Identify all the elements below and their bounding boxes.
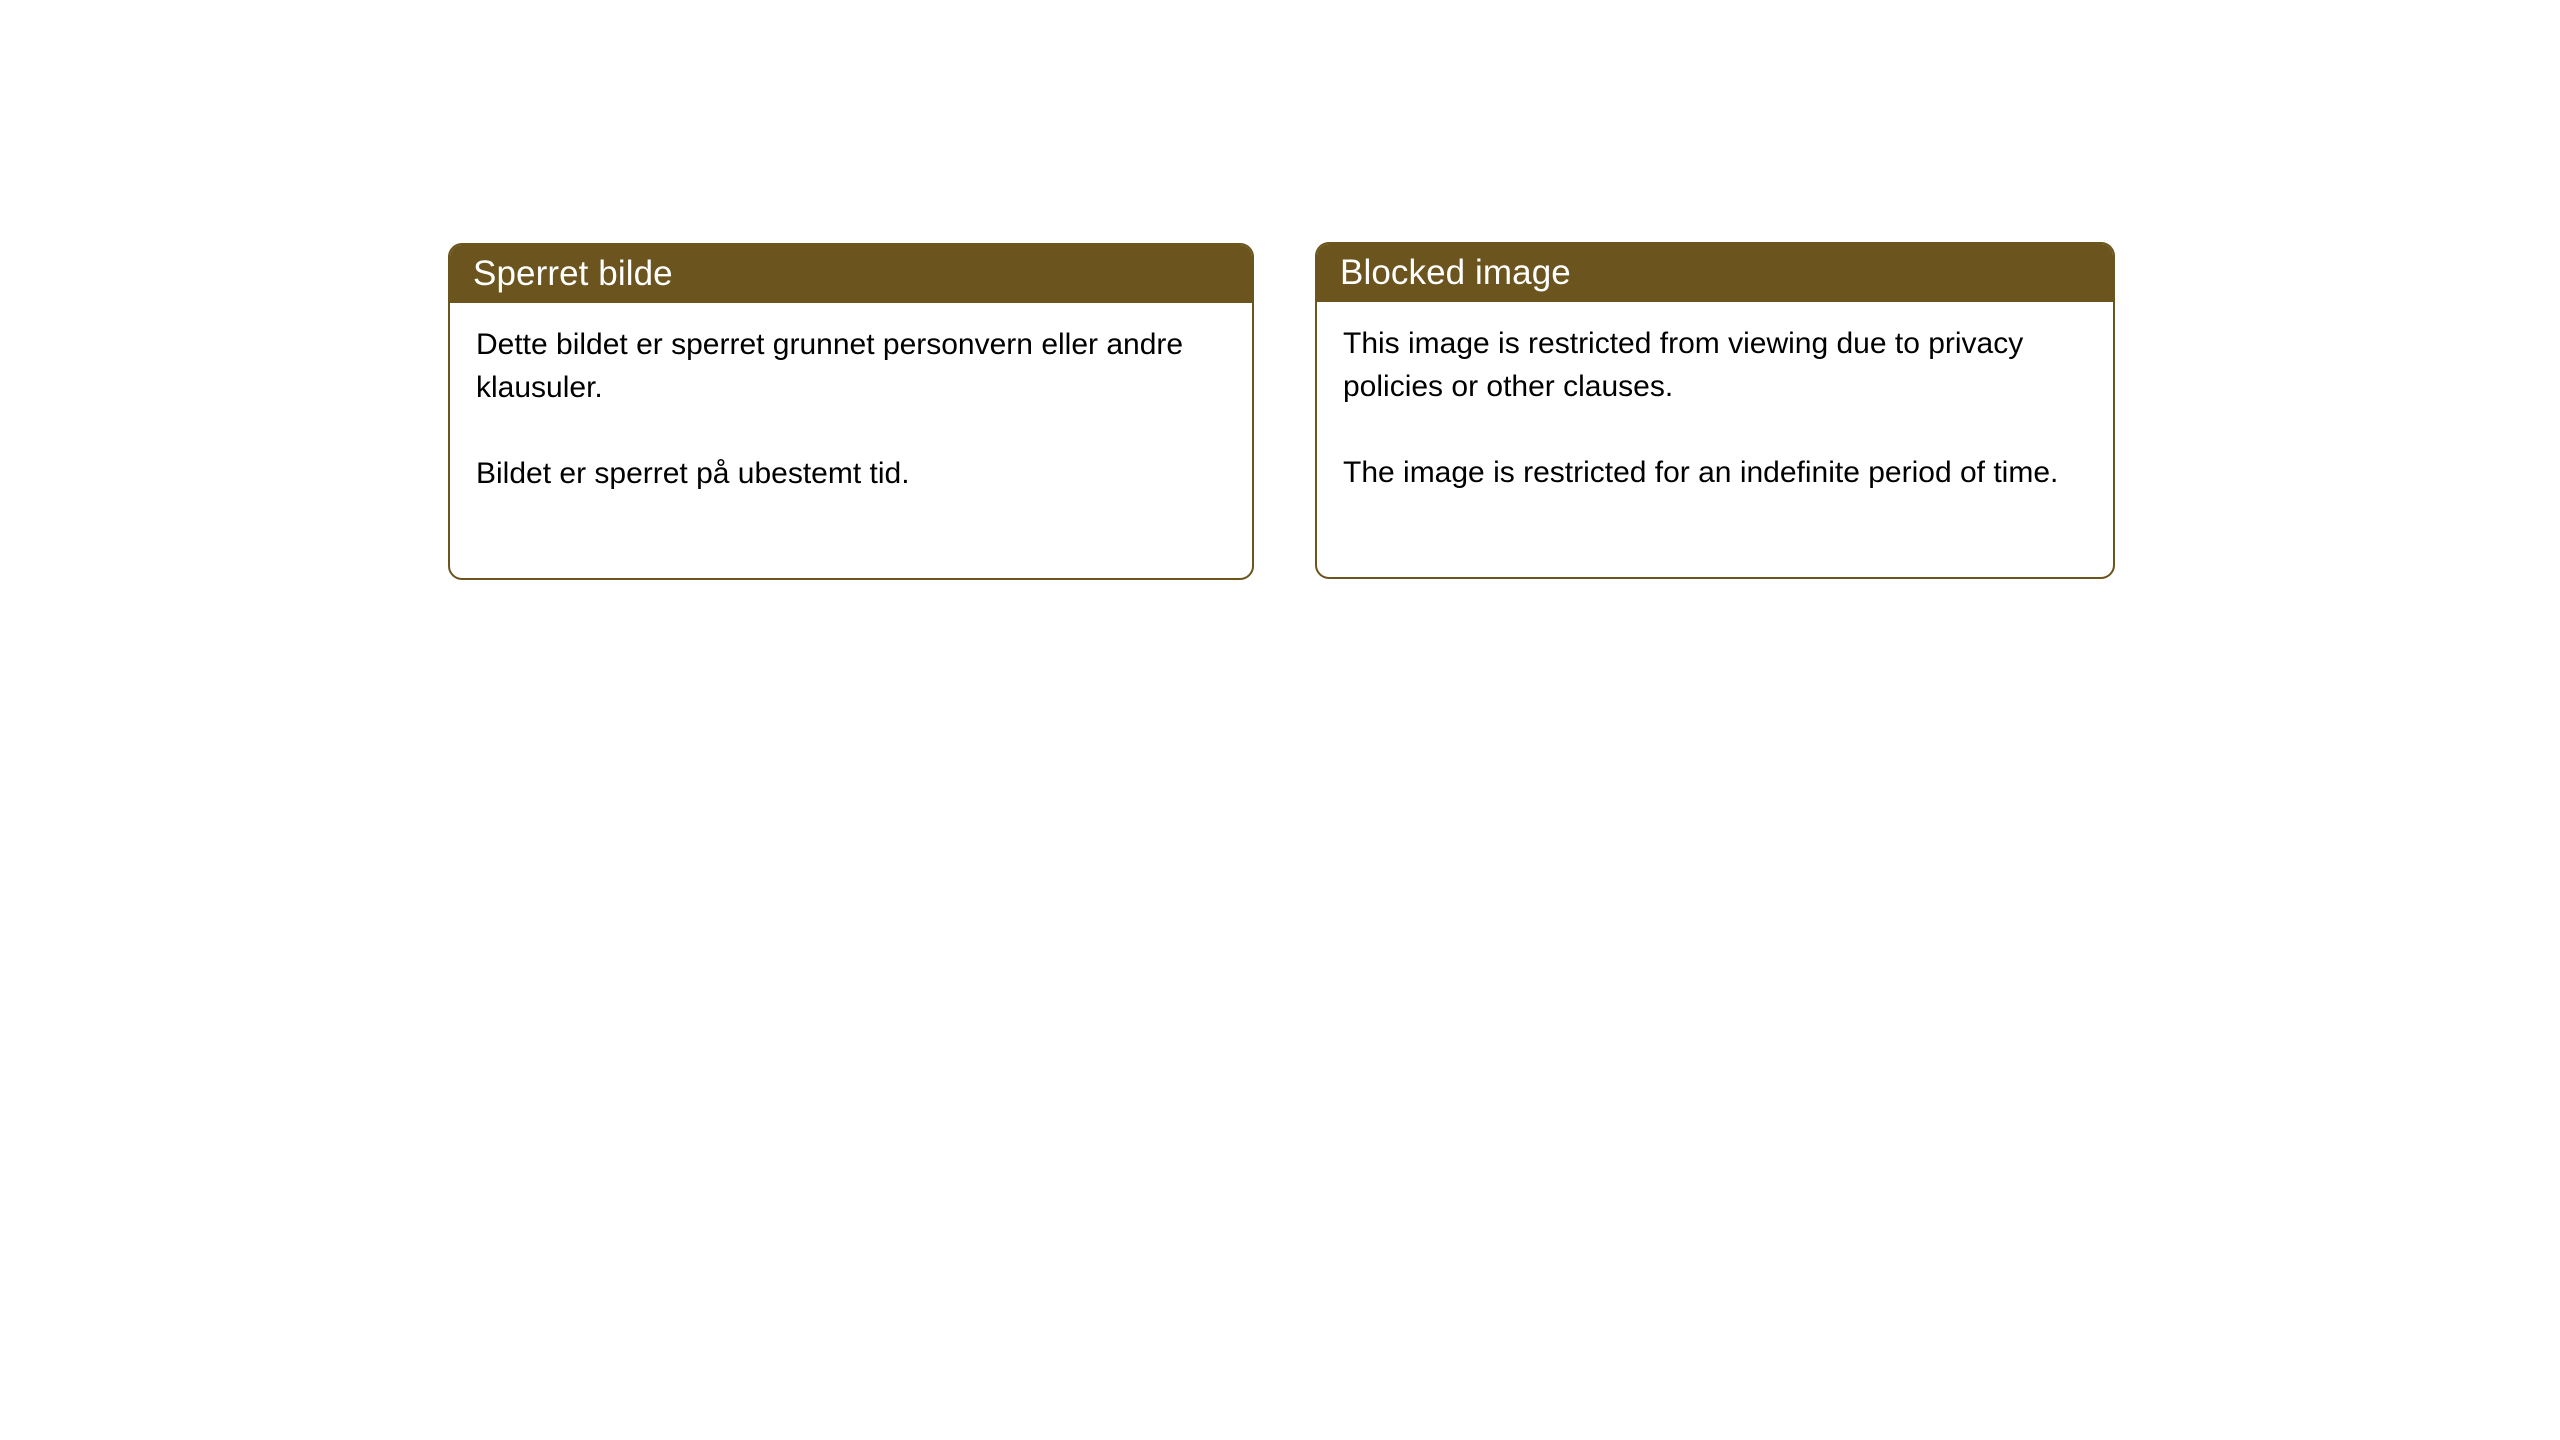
card-title-norwegian: Sperret bilde [473, 254, 673, 294]
blocked-image-notice-card-english: Blocked image This image is restricted f… [1315, 242, 2115, 579]
card-paragraph-reason-english: This image is restricted from viewing du… [1343, 322, 2089, 408]
card-body-norwegian: Dette bildet er sperret grunnet personve… [450, 303, 1252, 515]
card-paragraph-reason-norwegian: Dette bildet er sperret grunnet personve… [476, 323, 1228, 409]
card-title-english: Blocked image [1340, 253, 1571, 293]
card-header-english: Blocked image [1317, 244, 2113, 302]
card-header-norwegian: Sperret bilde [450, 245, 1252, 303]
card-body-english: This image is restricted from viewing du… [1317, 302, 2113, 514]
card-paragraph-duration-english: The image is restricted for an indefinit… [1343, 451, 2089, 494]
card-paragraph-duration-norwegian: Bildet er sperret på ubestemt tid. [476, 452, 1228, 495]
blocked-image-notice-card-norwegian: Sperret bilde Dette bildet er sperret gr… [448, 243, 1254, 580]
page-root: Sperret bilde Dette bildet er sperret gr… [0, 0, 2560, 1440]
